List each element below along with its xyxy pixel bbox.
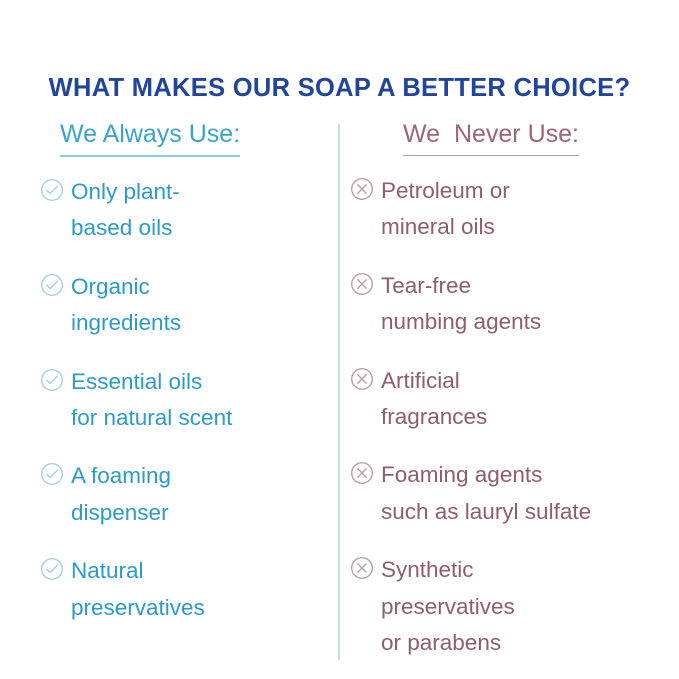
check-circle-icon <box>40 368 64 392</box>
never-use-heading: We Never Use: <box>403 120 579 156</box>
list-item-label: A foaming dispenser <box>71 458 171 531</box>
list-item: Synthetic preservatives or parabens <box>350 552 660 661</box>
list-item: Only plant- based oils <box>40 174 330 247</box>
x-circle-icon <box>350 367 374 391</box>
check-circle-icon <box>40 462 64 486</box>
list-item: Natural preservatives <box>40 553 330 626</box>
list-item-label: Natural preservatives <box>71 553 205 626</box>
comparison-columns: We Always Use: Only plant- based oils <box>0 0 679 679</box>
list-item-label: Only plant- based oils <box>71 174 180 247</box>
list-item: Foaming agents such as lauryl sulfate <box>350 457 660 530</box>
x-circle-icon <box>350 556 374 580</box>
always-use-column: We Always Use: Only plant- based oils <box>40 120 330 626</box>
list-item-label: Synthetic preservatives or parabens <box>381 552 515 661</box>
never-use-column: We Never Use: Petroleum or mineral oils <box>350 120 660 662</box>
list-item-label: Tear-free numbing agents <box>381 268 541 341</box>
list-item-label: Petroleum or mineral oils <box>381 173 510 246</box>
list-item: Artificial fragrances <box>350 363 660 436</box>
check-circle-icon <box>40 273 64 297</box>
list-item-label: Foaming agents such as lauryl sulfate <box>381 457 591 530</box>
comparison-poster: WHAT MAKES OUR SOAP A BETTER CHOICE? We … <box>0 0 679 679</box>
check-circle-icon <box>40 178 64 202</box>
x-circle-icon <box>350 461 374 485</box>
never-use-list: Petroleum or mineral oils Tear-free numb… <box>350 173 660 662</box>
x-circle-icon <box>350 272 374 296</box>
list-item: Essential oils for natural scent <box>40 364 330 437</box>
list-item-label: Organic ingredients <box>71 269 181 342</box>
list-item-label: Essential oils for natural scent <box>71 364 232 437</box>
check-circle-icon <box>40 557 64 581</box>
always-use-heading: We Always Use: <box>60 120 240 157</box>
list-item-label: Artificial fragrances <box>381 363 487 436</box>
list-item: Tear-free numbing agents <box>350 268 660 341</box>
x-circle-icon <box>350 177 374 201</box>
list-item: Organic ingredients <box>40 269 330 342</box>
always-use-list: Only plant- based oils Organic ingredien… <box>40 174 330 626</box>
list-item: A foaming dispenser <box>40 458 330 531</box>
list-item: Petroleum or mineral oils <box>350 173 660 246</box>
